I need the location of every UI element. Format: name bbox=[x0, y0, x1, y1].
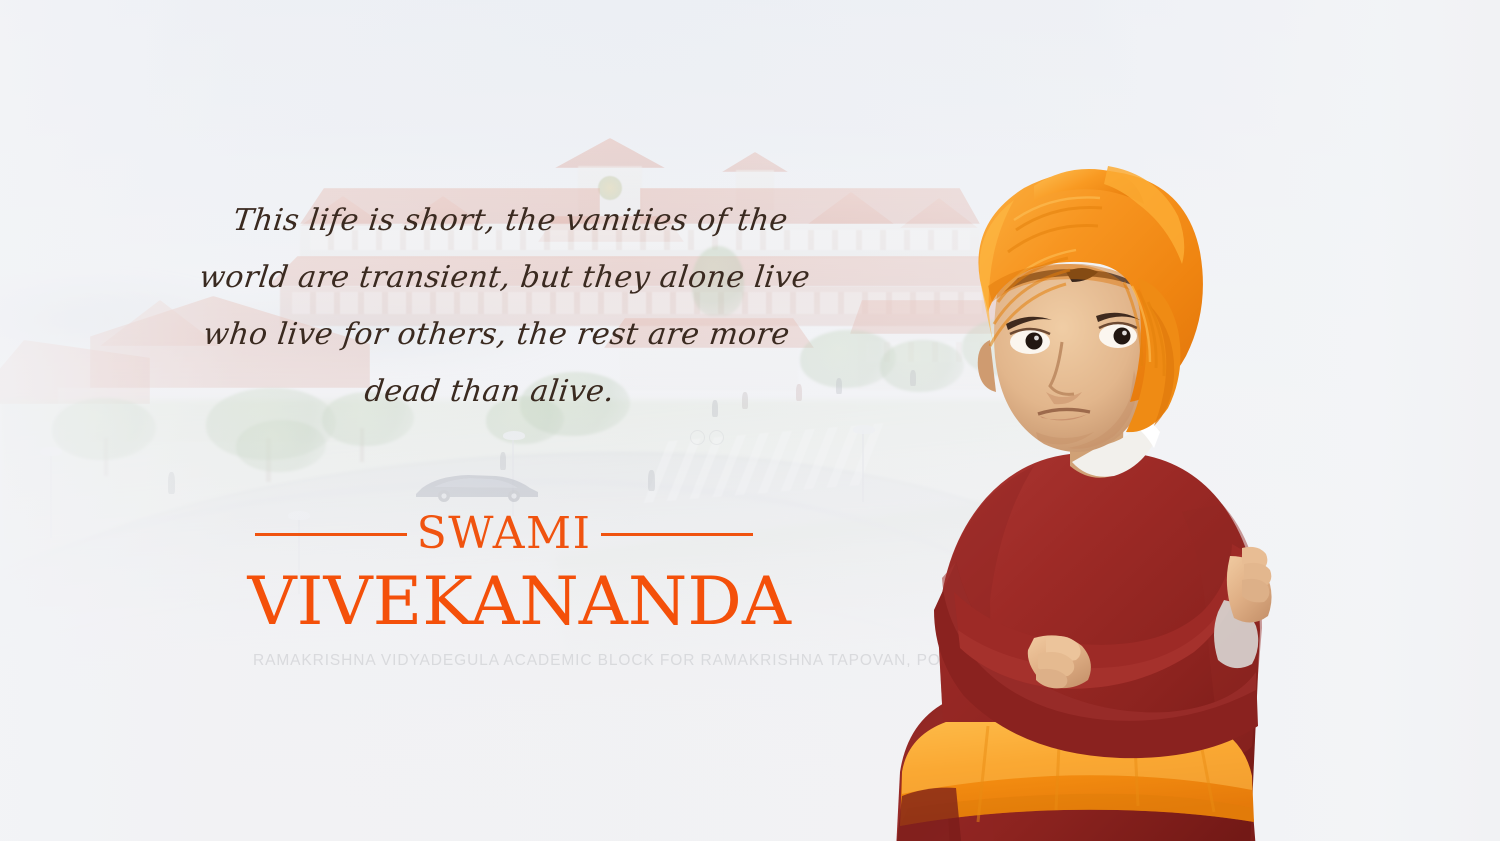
quote-poster: RAMAKRISHNA VIDYADEGULA ACADEMIC BLOCK F… bbox=[0, 0, 1500, 841]
attribution-first-line-row: SWAMI bbox=[255, 505, 753, 563]
rule-right bbox=[601, 533, 753, 536]
quote-line-2: world are transient, but they alone live bbox=[196, 249, 811, 306]
attribution-swami: SWAMI bbox=[417, 512, 592, 556]
attribution-block: SWAMI VIVEKANANDA bbox=[255, 505, 753, 635]
swami-vivekananda-figure bbox=[838, 160, 1358, 841]
quote-text: This life is short, the vanities of the … bbox=[182, 192, 818, 420]
figure-robe-fold bbox=[896, 788, 962, 841]
quote-line-4: dead than alive. bbox=[182, 363, 797, 420]
swami-vivekananda-illustration bbox=[838, 160, 1358, 841]
rule-left bbox=[255, 533, 407, 536]
quote-line-3: who live for others, the rest are more bbox=[189, 306, 804, 363]
attribution-vivekananda: VIVEKANANDA bbox=[248, 569, 761, 635]
quote-line-1: This life is short, the vanities of the bbox=[203, 192, 818, 249]
